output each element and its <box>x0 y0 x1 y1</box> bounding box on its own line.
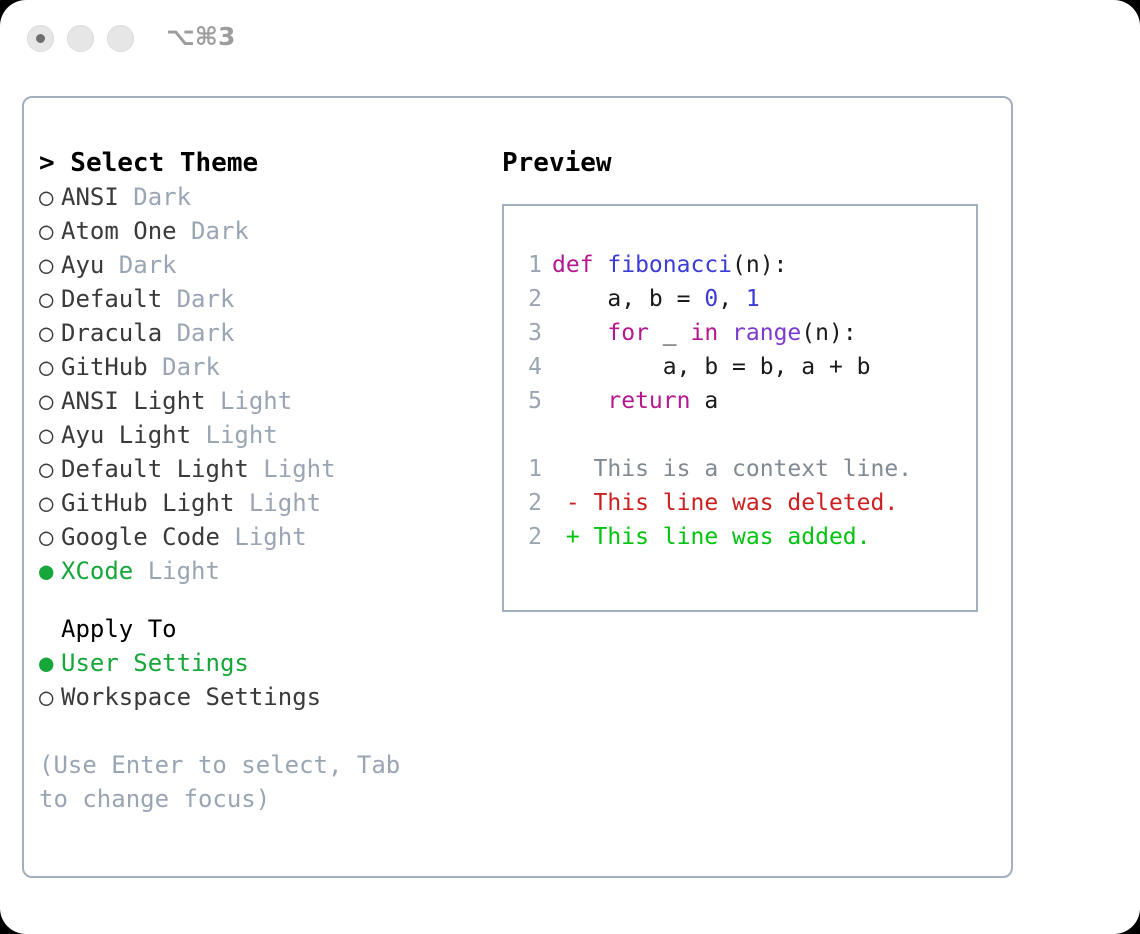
code-token: (n): <box>801 320 856 346</box>
code-token: , <box>718 286 746 312</box>
theme-option-kind: Dark <box>162 319 234 347</box>
code-token <box>718 320 732 346</box>
diff-line-del: 2 - This line was deleted. <box>516 486 912 520</box>
spacer <box>39 714 479 748</box>
theme-option-kind: Dark <box>119 183 191 211</box>
select-theme-header: > Select Theme <box>39 146 479 180</box>
theme-option-github[interactable]: ○GitHub Dark <box>39 350 479 384</box>
code-token: a, b = <box>552 286 704 312</box>
diff-line-ctx: 1 This is a context line. <box>516 452 912 486</box>
theme-option-label: Google Code <box>61 523 220 551</box>
apply-option-label: User Settings <box>61 649 249 677</box>
code-token: 0 <box>704 286 718 312</box>
theme-option-ansi[interactable]: ○ANSI Dark <box>39 180 479 214</box>
theme-option-dracula[interactable]: ○Dracula Dark <box>39 316 479 350</box>
diff-line-text: + This line was added. <box>552 524 871 550</box>
code-token: return <box>607 388 690 414</box>
keyboard-shortcut-label: ⌥⌘3 <box>166 22 235 51</box>
code-line: 3 for _ in range(n): <box>516 316 871 350</box>
theme-option-kind: Dark <box>162 285 234 313</box>
window-dot-close[interactable] <box>27 25 54 52</box>
window-dot-minimize[interactable] <box>67 25 94 52</box>
theme-option-label: Dracula <box>61 319 162 347</box>
theme-option-atom-one[interactable]: ○Atom One Dark <box>39 214 479 248</box>
apply-option-workspace-settings[interactable]: ○Workspace Settings <box>39 680 479 714</box>
radio-selected-icon: ● <box>39 554 61 588</box>
preview-column: Preview 1def fibonacci(n):2 a, b = 0, 13… <box>502 146 992 612</box>
theme-picker-card: > Select Theme ○ANSI Dark○Atom One Dark○… <box>22 96 1013 878</box>
theme-option-xcode[interactable]: ●XCode Light <box>39 554 479 588</box>
theme-option-kind: Light <box>220 523 307 551</box>
code-token: range <box>732 320 801 346</box>
code-sample: 1def fibonacci(n):2 a, b = 0, 13 for _ i… <box>516 248 871 418</box>
diff-line-number: 2 <box>516 486 542 520</box>
keyboard-hint-text: (Use Enter to select, Tab to change focu… <box>39 748 439 816</box>
theme-option-label: ANSI Light <box>61 387 206 415</box>
code-token: (n): <box>732 252 787 278</box>
preview-panel: 1def fibonacci(n):2 a, b = 0, 13 for _ i… <box>502 204 978 612</box>
theme-option-kind: Light <box>191 421 278 449</box>
theme-option-label: GitHub <box>61 353 148 381</box>
window-dot-active-indicator <box>36 34 45 43</box>
code-token <box>552 320 607 346</box>
code-line: 5 return a <box>516 384 871 418</box>
code-token: fibonacci <box>607 252 732 278</box>
preview-title: Preview <box>502 146 992 180</box>
code-token: a <box>690 388 718 414</box>
theme-option-ansi-light[interactable]: ○ANSI Light Light <box>39 384 479 418</box>
theme-option-kind: Dark <box>177 217 249 245</box>
code-line: 2 a, b = 0, 1 <box>516 282 871 316</box>
diff-line-text: - This line was deleted. <box>552 490 898 516</box>
radio-unselected-icon: ○ <box>39 350 61 384</box>
radio-unselected-icon: ○ <box>39 452 61 486</box>
code-line: 4 a, b = b, a + b <box>516 350 871 384</box>
theme-option-label: GitHub Light <box>61 489 234 517</box>
code-line: 1def fibonacci(n): <box>516 248 871 282</box>
apply-to-options: ●User Settings○Workspace Settings <box>39 646 479 714</box>
diff-line-number: 1 <box>516 452 542 486</box>
theme-option-github-light[interactable]: ○GitHub Light Light <box>39 486 479 520</box>
theme-option-kind: Light <box>206 387 293 415</box>
theme-option-google-code[interactable]: ○Google Code Light <box>39 520 479 554</box>
title-bar: ⌥⌘3 <box>0 0 1140 80</box>
code-line-number: 3 <box>516 316 542 350</box>
code-token: 1 <box>746 286 760 312</box>
code-token: _ <box>649 320 691 346</box>
code-token: def <box>552 252 607 278</box>
theme-option-ayu[interactable]: ○Ayu Dark <box>39 248 479 282</box>
theme-option-label: Default <box>61 285 162 313</box>
theme-list-column: > Select Theme ○ANSI Dark○Atom One Dark○… <box>39 146 479 816</box>
radio-unselected-icon: ○ <box>39 180 61 214</box>
radio-unselected-icon: ○ <box>39 248 61 282</box>
theme-option-kind: Light <box>133 557 220 585</box>
radio-unselected-icon: ○ <box>39 680 61 714</box>
code-line-number: 1 <box>516 248 542 282</box>
code-line-number: 2 <box>516 282 542 316</box>
theme-option-kind: Light <box>234 489 321 517</box>
apply-option-user-settings[interactable]: ●User Settings <box>39 646 479 680</box>
app-window: ⌥⌘3 > Select Theme ○ANSI Dark○Atom One D… <box>0 0 1140 934</box>
radio-unselected-icon: ○ <box>39 520 61 554</box>
window-dot-maximize[interactable] <box>107 25 134 52</box>
radio-unselected-icon: ○ <box>39 282 61 316</box>
radio-unselected-icon: ○ <box>39 316 61 350</box>
window-controls <box>27 25 134 52</box>
theme-option-default-light[interactable]: ○Default Light Light <box>39 452 479 486</box>
radio-unselected-icon: ○ <box>39 418 61 452</box>
theme-option-label: XCode <box>61 557 133 585</box>
diff-line-text: This is a context line. <box>552 456 912 482</box>
theme-list: ○ANSI Dark○Atom One Dark○Ayu Dark○Defaul… <box>39 180 479 588</box>
radio-unselected-icon: ○ <box>39 486 61 520</box>
diff-line-add: 2 + This line was added. <box>516 520 912 554</box>
theme-option-label: Atom One <box>61 217 177 245</box>
code-token: a, b = b, a + b <box>552 354 871 380</box>
radio-selected-icon: ● <box>39 646 61 680</box>
code-token: in <box>690 320 718 346</box>
spacer <box>39 588 479 612</box>
theme-option-kind: Dark <box>148 353 220 381</box>
radio-unselected-icon: ○ <box>39 384 61 418</box>
radio-unselected-icon: ○ <box>39 214 61 248</box>
diff-sample: 1 This is a context line.2 - This line w… <box>516 452 912 554</box>
theme-option-ayu-light[interactable]: ○Ayu Light Light <box>39 418 479 452</box>
theme-option-label: Default Light <box>61 455 249 483</box>
apply-to-header: Apply To <box>39 612 479 646</box>
theme-option-label: Ayu <box>61 251 104 279</box>
theme-option-default[interactable]: ○Default Dark <box>39 282 479 316</box>
diff-line-number: 2 <box>516 520 542 554</box>
code-line-number: 5 <box>516 384 542 418</box>
code-token: for <box>607 320 649 346</box>
code-token <box>552 388 607 414</box>
code-line-number: 4 <box>516 350 542 384</box>
theme-option-label: ANSI <box>61 183 119 211</box>
theme-option-label: Ayu Light <box>61 421 191 449</box>
apply-option-label: Workspace Settings <box>61 683 321 711</box>
theme-option-kind: Light <box>249 455 336 483</box>
theme-option-kind: Dark <box>104 251 176 279</box>
